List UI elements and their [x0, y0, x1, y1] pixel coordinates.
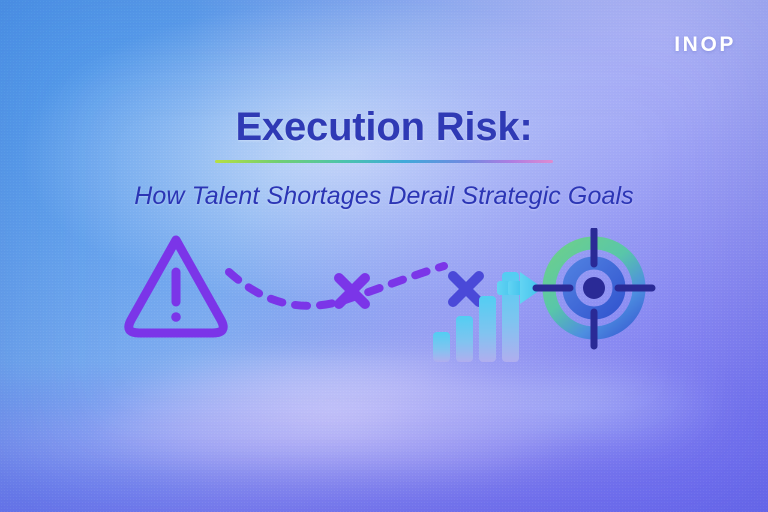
title-divider [215, 160, 553, 163]
illustration-group [0, 228, 768, 378]
page-title: Execution Risk: [0, 105, 768, 150]
warning-triangle-icon [129, 240, 223, 333]
page-subtitle: How Talent Shortages Derail Strategic Go… [0, 182, 768, 211]
target-icon [536, 230, 652, 346]
slide-canvas: INOP Execution Risk: How Talent Shortage… [0, 0, 768, 512]
x-mark-2 [453, 276, 479, 302]
brand-logo: INOP [674, 33, 736, 57]
